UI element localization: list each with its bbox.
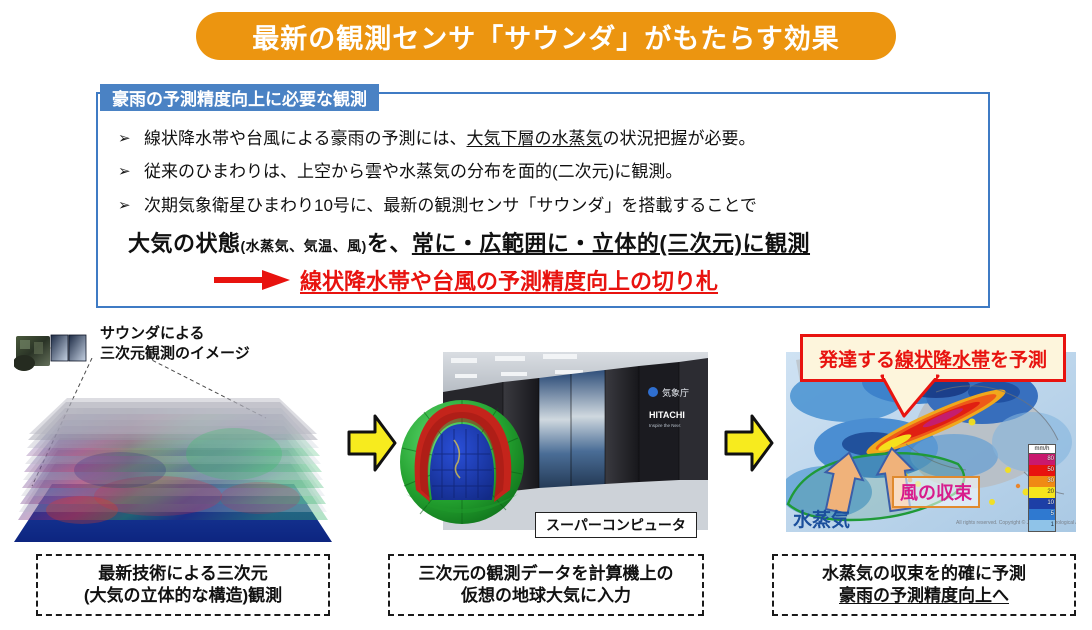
bullet-item-3: ➢ 次期気象衛星ひまわり10号に、最新の観測センサ「サウンダ」を搭載することで bbox=[118, 195, 757, 216]
map-label-wind-convergence: 風の収束 bbox=[892, 476, 980, 508]
sounder-annotation-line1: サウンダによる bbox=[100, 324, 250, 344]
legend-swatch-1: 1 bbox=[1029, 520, 1055, 531]
legend-value-80: 80 bbox=[1047, 455, 1054, 464]
legend-swatch-10: 10 bbox=[1029, 498, 1055, 509]
flow-arrow-2 bbox=[722, 412, 776, 474]
bullet-item-2: ➢ 従来のひまわりは、上空から雲や水蒸気の分布を面的(二次元)に観測。 bbox=[118, 161, 682, 182]
bullet-text-1: 線状降水帯や台風による豪雨の予測には、大気下層の水蒸気の状況把握が必要。 bbox=[144, 128, 756, 149]
key-points-header-tab: 豪雨の予測精度向上に必要な観測 bbox=[100, 84, 379, 111]
conclusion-text: 線状降水帯や台風の予測精度向上の切り札 bbox=[300, 264, 718, 296]
sounder-3d-visualization bbox=[8, 392, 338, 552]
bullet-marker-icon: ➢ bbox=[118, 161, 144, 181]
bullet-item-1: ➢ 線状降水帯や台風による豪雨の予測には、大気下層の水蒸気の状況把握が必要。 bbox=[118, 128, 756, 149]
bullet-marker-icon: ➢ bbox=[118, 195, 144, 215]
legend-value-10: 10 bbox=[1047, 499, 1054, 508]
legend-swatch-5: 5 bbox=[1029, 509, 1055, 520]
legend-value-20: 20 bbox=[1047, 488, 1054, 497]
conclusion-line: 線状降水帯や台風の予測精度向上の切り札 bbox=[214, 264, 718, 296]
legend-swatch-50: 50 bbox=[1029, 465, 1055, 476]
emphasis-mid: を、 bbox=[367, 231, 412, 256]
svg-text:気象庁: 気象庁 bbox=[662, 387, 689, 398]
caption-supercomputer-line2: 仮想の地球大気に入力 bbox=[419, 585, 674, 607]
caption-sounder-line1: 最新技術による三次元 bbox=[84, 563, 282, 585]
callout-post: を予測 bbox=[990, 350, 1047, 371]
caption-supercomputer: 三次元の観測データを計算機上の 仮想の地球大気に入力 bbox=[388, 554, 704, 616]
callout-pointer bbox=[880, 374, 940, 418]
map-label-water-vapor: 水蒸気 bbox=[793, 505, 850, 532]
callout-underlined: 線状降水帯 bbox=[895, 350, 990, 371]
page-title: 最新の観測センサ「サウンダ」がもたらす効果 bbox=[252, 17, 839, 56]
legend-value-5: 5 bbox=[1051, 510, 1054, 519]
caption-sounder-line2: (大気の立体的な構造)観測 bbox=[84, 585, 282, 607]
legend-swatch-20: 20 bbox=[1029, 487, 1055, 498]
caption-supercomputer-line1: 三次元の観測データを計算機上の bbox=[419, 563, 674, 585]
forecast-callout-text: 発達する線状降水帯を予測 bbox=[819, 345, 1047, 372]
bullet-1-underlined: 大気下層の水蒸気 bbox=[467, 129, 603, 148]
bullet-1-pre: 線状降水帯や台風による豪雨の予測には、 bbox=[144, 129, 467, 148]
legend-value-50: 50 bbox=[1047, 466, 1054, 475]
svg-text:All rights reserved. Copyright: All rights reserved. Copyright © Japan M… bbox=[956, 519, 1076, 526]
bullet-marker-icon: ➢ bbox=[118, 128, 144, 148]
caption-sounder: 最新技術による三次元 (大気の立体的な構造)観測 bbox=[36, 554, 330, 616]
callout-pre: 発達する bbox=[819, 350, 895, 371]
emphasis-underlined: 常に・広範囲に・立体的(三次元)に観測 bbox=[412, 231, 810, 256]
caption-forecast: 水蒸気の収束を的確に予測 豪雨の予測精度向上へ bbox=[772, 554, 1076, 616]
slide-title-banner: 最新の観測センサ「サウンダ」がもたらす効果 bbox=[196, 12, 896, 60]
caption-forecast-line2: 豪雨の予測精度向上へ bbox=[822, 585, 1026, 607]
svg-text:Inspire the Next: Inspire the Next bbox=[649, 423, 681, 428]
legend-value-1: 1 bbox=[1051, 521, 1054, 530]
emphasis-lead: 大気の状態 bbox=[128, 231, 241, 256]
rainfall-legend: mm/h 80 50 30 20 10 5 1 bbox=[1028, 444, 1056, 532]
legend-swatch-80: 80 bbox=[1029, 454, 1055, 465]
bullet-text-3: 次期気象衛星ひまわり10号に、最新の観測センサ「サウンダ」を搭載することで bbox=[144, 195, 757, 216]
emphasis-line: 大気の状態(水蒸気、気温、風)を、常に・広範囲に・立体的(三次元)に観測 bbox=[128, 226, 810, 258]
flow-arrow-1 bbox=[345, 412, 399, 474]
right-arrow-icon bbox=[214, 269, 290, 291]
emphasis-paren: (水蒸気、気温、風) bbox=[241, 238, 367, 254]
globe-model-visualization bbox=[398, 398, 526, 526]
bullet-1-post: の状況把握が必要。 bbox=[603, 129, 756, 148]
legend-unit-label: mm/h bbox=[1029, 445, 1055, 454]
bullet-text-2: 従来のひまわりは、上空から雲や水蒸気の分布を面的(二次元)に観測。 bbox=[144, 161, 682, 182]
legend-value-30: 30 bbox=[1047, 477, 1054, 486]
legend-swatch-30: 30 bbox=[1029, 476, 1055, 487]
key-points-header-label: 豪雨の予測精度向上に必要な観測 bbox=[112, 85, 367, 110]
caption-forecast-line1: 水蒸気の収束を的確に予測 bbox=[822, 563, 1026, 585]
supercomputer-photo-label: スーパーコンピュータ bbox=[535, 512, 697, 538]
